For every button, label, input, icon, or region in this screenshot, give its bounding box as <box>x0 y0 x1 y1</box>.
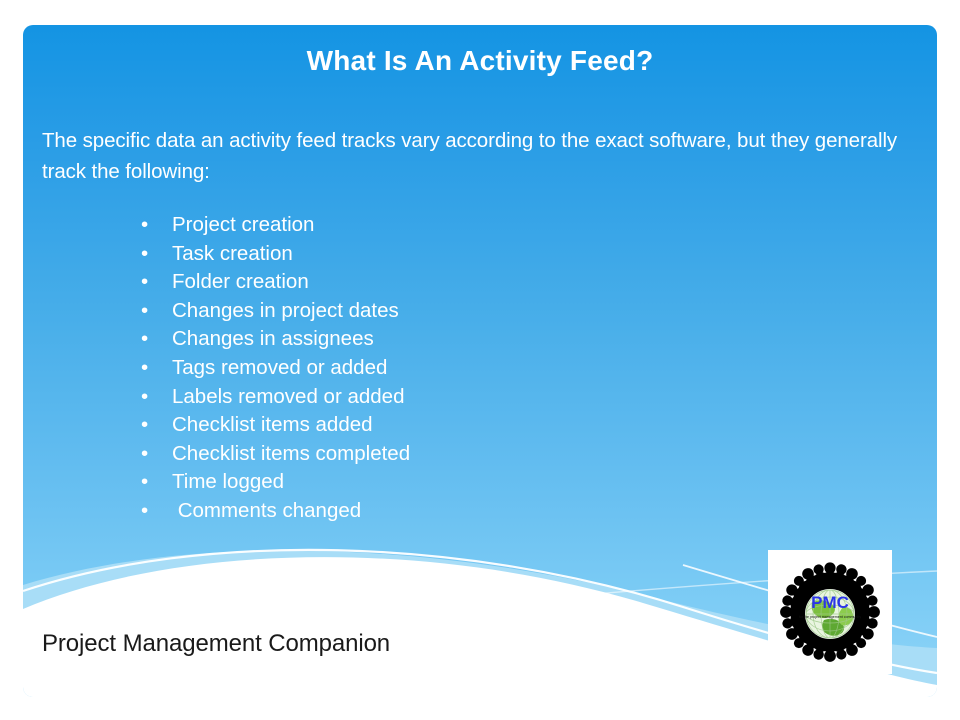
bullet-marker-icon: • <box>141 468 148 497</box>
bullet-marker-icon: • <box>141 240 148 269</box>
list-item-label: Folder creation <box>172 270 309 293</box>
bullet-marker-icon: • <box>141 497 148 526</box>
list-item-label: Labels removed or added <box>172 385 405 408</box>
list-item: • Comments changed <box>135 497 835 526</box>
intro-paragraph: The specific data an activity feed track… <box>42 125 904 187</box>
footer-brand-text: Project Management Companion <box>42 630 390 658</box>
bullet-marker-icon: • <box>141 354 148 383</box>
list-item-label: Checklist items added <box>172 413 373 436</box>
bullet-marker-icon: • <box>141 297 148 326</box>
list-item-label: Tags removed or added <box>172 356 387 379</box>
logo-tagline: for the project management community <box>799 615 862 619</box>
list-item: •Project creation <box>135 211 835 240</box>
bullet-marker-icon: • <box>141 383 148 412</box>
logo-wordmark: PMC <box>811 593 849 612</box>
bullet-marker-icon: • <box>141 440 148 469</box>
bullet-marker-icon: • <box>141 211 148 240</box>
pmc-logo: PMC for the project management community <box>768 550 892 674</box>
page-title: What Is An Activity Feed? <box>23 45 937 77</box>
list-item-label: Changes in project dates <box>172 299 399 322</box>
bullet-marker-icon: • <box>141 411 148 440</box>
list-item: •Changes in project dates <box>135 297 835 326</box>
list-item: •Checklist items completed <box>135 440 835 469</box>
list-item-label: Comments changed <box>172 499 361 522</box>
list-item-label: Changes in assignees <box>172 327 374 350</box>
list-item: •Tags removed or added <box>135 354 835 383</box>
list-item-label: Time logged <box>172 470 284 493</box>
list-item: •Task creation <box>135 240 835 269</box>
bullet-marker-icon: • <box>141 325 148 354</box>
list-item: •Folder creation <box>135 268 835 297</box>
list-item: •Labels removed or added <box>135 383 835 412</box>
list-item-label: Project creation <box>172 213 314 236</box>
list-item-label: Checklist items completed <box>172 442 410 465</box>
slide-canvas: What Is An Activity Feed? The specific d… <box>23 25 937 697</box>
pmc-logo-icon: PMC for the project management community <box>768 550 892 674</box>
list-item-label: Task creation <box>172 242 293 265</box>
list-item: •Time logged <box>135 468 835 497</box>
bullet-marker-icon: • <box>141 268 148 297</box>
activity-list: •Project creation •Task creation •Folder… <box>135 211 835 526</box>
list-item: •Changes in assignees <box>135 325 835 354</box>
list-item: •Checklist items added <box>135 411 835 440</box>
